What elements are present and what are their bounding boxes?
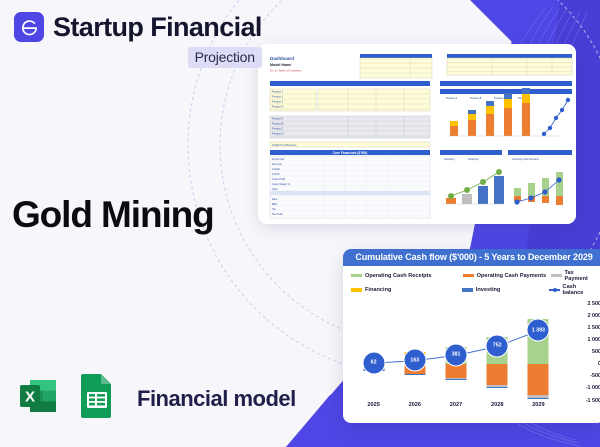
svg-text:Product A: Product A bbox=[446, 96, 458, 100]
svg-text:Product B: Product B bbox=[470, 96, 482, 100]
y-axis-tick: 1 500 bbox=[588, 325, 600, 331]
legend-line-marker-icon bbox=[549, 289, 560, 290]
chart-bars: 621633817521 393 bbox=[353, 304, 559, 401]
legend-swatch-icon bbox=[351, 288, 362, 291]
svg-text:Gross Profit: Gross Profit bbox=[272, 178, 286, 181]
svg-text:Product A: Product A bbox=[272, 117, 284, 121]
legend-item-tax: Tax Payment bbox=[551, 270, 597, 282]
dashboard-screenshot: Dashboard Model Name Go to Table of Cont… bbox=[258, 44, 576, 224]
data-point-label: 1 393 bbox=[527, 319, 550, 342]
svg-text:Product 2: Product 2 bbox=[272, 95, 284, 99]
projection-badge: Projection bbox=[188, 47, 262, 68]
excel-file-icon: X bbox=[14, 372, 62, 425]
legend-item-investing: Investing bbox=[462, 284, 549, 296]
y-axis-tick: 500 bbox=[592, 349, 600, 355]
data-point-label: 752 bbox=[486, 334, 509, 357]
svg-text:Model Name: Model Name bbox=[270, 63, 291, 67]
brand-header: Startup Financial Projection bbox=[14, 12, 262, 68]
legend-swatch-icon bbox=[551, 274, 562, 277]
svg-text:Dashboard: Dashboard bbox=[270, 56, 294, 61]
legend-swatch-icon bbox=[462, 288, 473, 291]
svg-text:COGS: COGS bbox=[272, 173, 280, 176]
x-axis: 20252026202720282029 bbox=[353, 402, 559, 416]
svg-text:Product 4: Product 4 bbox=[272, 105, 284, 109]
x-axis-tick: 2027 bbox=[435, 402, 476, 416]
data-point-label: 163 bbox=[403, 349, 426, 372]
svg-text:D&A: D&A bbox=[272, 198, 277, 201]
y-axis-tick: 1 000 bbox=[588, 337, 600, 343]
svg-text:Operating: Operating bbox=[444, 158, 455, 161]
x-axis-tick: 2025 bbox=[353, 402, 394, 416]
format-footer: X Financial model bbox=[14, 372, 296, 425]
x-axis-tick: 2026 bbox=[394, 402, 435, 416]
cumulative-cashflow-chart: Cumulative Cash flow ($'000) - 5 Years t… bbox=[343, 249, 600, 423]
footer-label: Financial model bbox=[137, 386, 296, 412]
x-axis-tick: 2028 bbox=[477, 402, 518, 416]
legend-item-receipts: Operating Cash Receipts bbox=[351, 270, 463, 282]
legend-swatch-icon bbox=[351, 274, 362, 277]
y-axis-tick: 2 000 bbox=[588, 313, 600, 319]
svg-text:Opex: Opex bbox=[272, 188, 279, 191]
svg-text:Product D: Product D bbox=[272, 132, 284, 136]
svg-text:Gross Margin %: Gross Margin % bbox=[272, 183, 291, 186]
chart-legend: Operating Cash Receipts Operating Cash P… bbox=[343, 266, 600, 301]
svg-text:Fiscal Year: Fiscal Year bbox=[272, 158, 284, 161]
svg-text:Financing: Financing bbox=[468, 158, 479, 161]
y-axis-tick: -1 500 bbox=[586, 398, 600, 404]
chart-plot-area: 621633817521 393 2 5002 0001 5001 000500… bbox=[343, 302, 600, 418]
svg-text:Operating Cash Receipts: Operating Cash Receipts bbox=[512, 158, 540, 161]
y-axis-tick: -1 000 bbox=[586, 385, 600, 391]
svg-text:Go to Table of Contents: Go to Table of Contents bbox=[270, 69, 302, 73]
y-axis-tick: -500 bbox=[590, 373, 600, 379]
data-point-label: 381 bbox=[445, 343, 468, 366]
svg-text:Growth: Growth bbox=[272, 168, 281, 171]
x-axis-tick: 2029 bbox=[518, 402, 559, 416]
svg-text:Product B: Product B bbox=[272, 122, 284, 126]
legend-item-financing: Financing bbox=[351, 284, 462, 296]
brand-title: Startup Financial bbox=[53, 14, 262, 41]
svg-text:X: X bbox=[25, 389, 35, 406]
legend-swatch-icon bbox=[463, 274, 474, 277]
svg-text:Product C: Product C bbox=[272, 127, 284, 131]
legend-item-cash-balance: Cash balance bbox=[549, 284, 597, 296]
y-axis-tick: 2 500 bbox=[588, 301, 600, 307]
swirl-e-logo-icon bbox=[14, 12, 44, 42]
data-point-label: 62 bbox=[362, 351, 385, 374]
svg-text:Product 3: Product 3 bbox=[272, 100, 284, 104]
y-axis: 2 5002 0001 5001 0005000-500-1 000-1 500 bbox=[559, 304, 600, 401]
svg-text:Core Financials ($'000): Core Financials ($'000) bbox=[333, 151, 368, 155]
svg-text:Net Profit: Net Profit bbox=[272, 213, 283, 216]
svg-text:Revenue: Revenue bbox=[272, 163, 283, 166]
google-sheets-icon bbox=[75, 372, 119, 425]
svg-text:Product C: Product C bbox=[494, 96, 506, 100]
chart-title: Cumulative Cash flow ($'000) - 5 Years t… bbox=[343, 249, 600, 266]
legend-item-payments: Operating Cash Payments bbox=[463, 270, 551, 282]
svg-text:EBIT: EBIT bbox=[272, 203, 278, 206]
svg-text:Product 1: Product 1 bbox=[272, 90, 284, 94]
page-title: Gold Mining bbox=[12, 196, 214, 233]
svg-text:CAGR % of Revenue: CAGR % of Revenue bbox=[272, 143, 297, 147]
